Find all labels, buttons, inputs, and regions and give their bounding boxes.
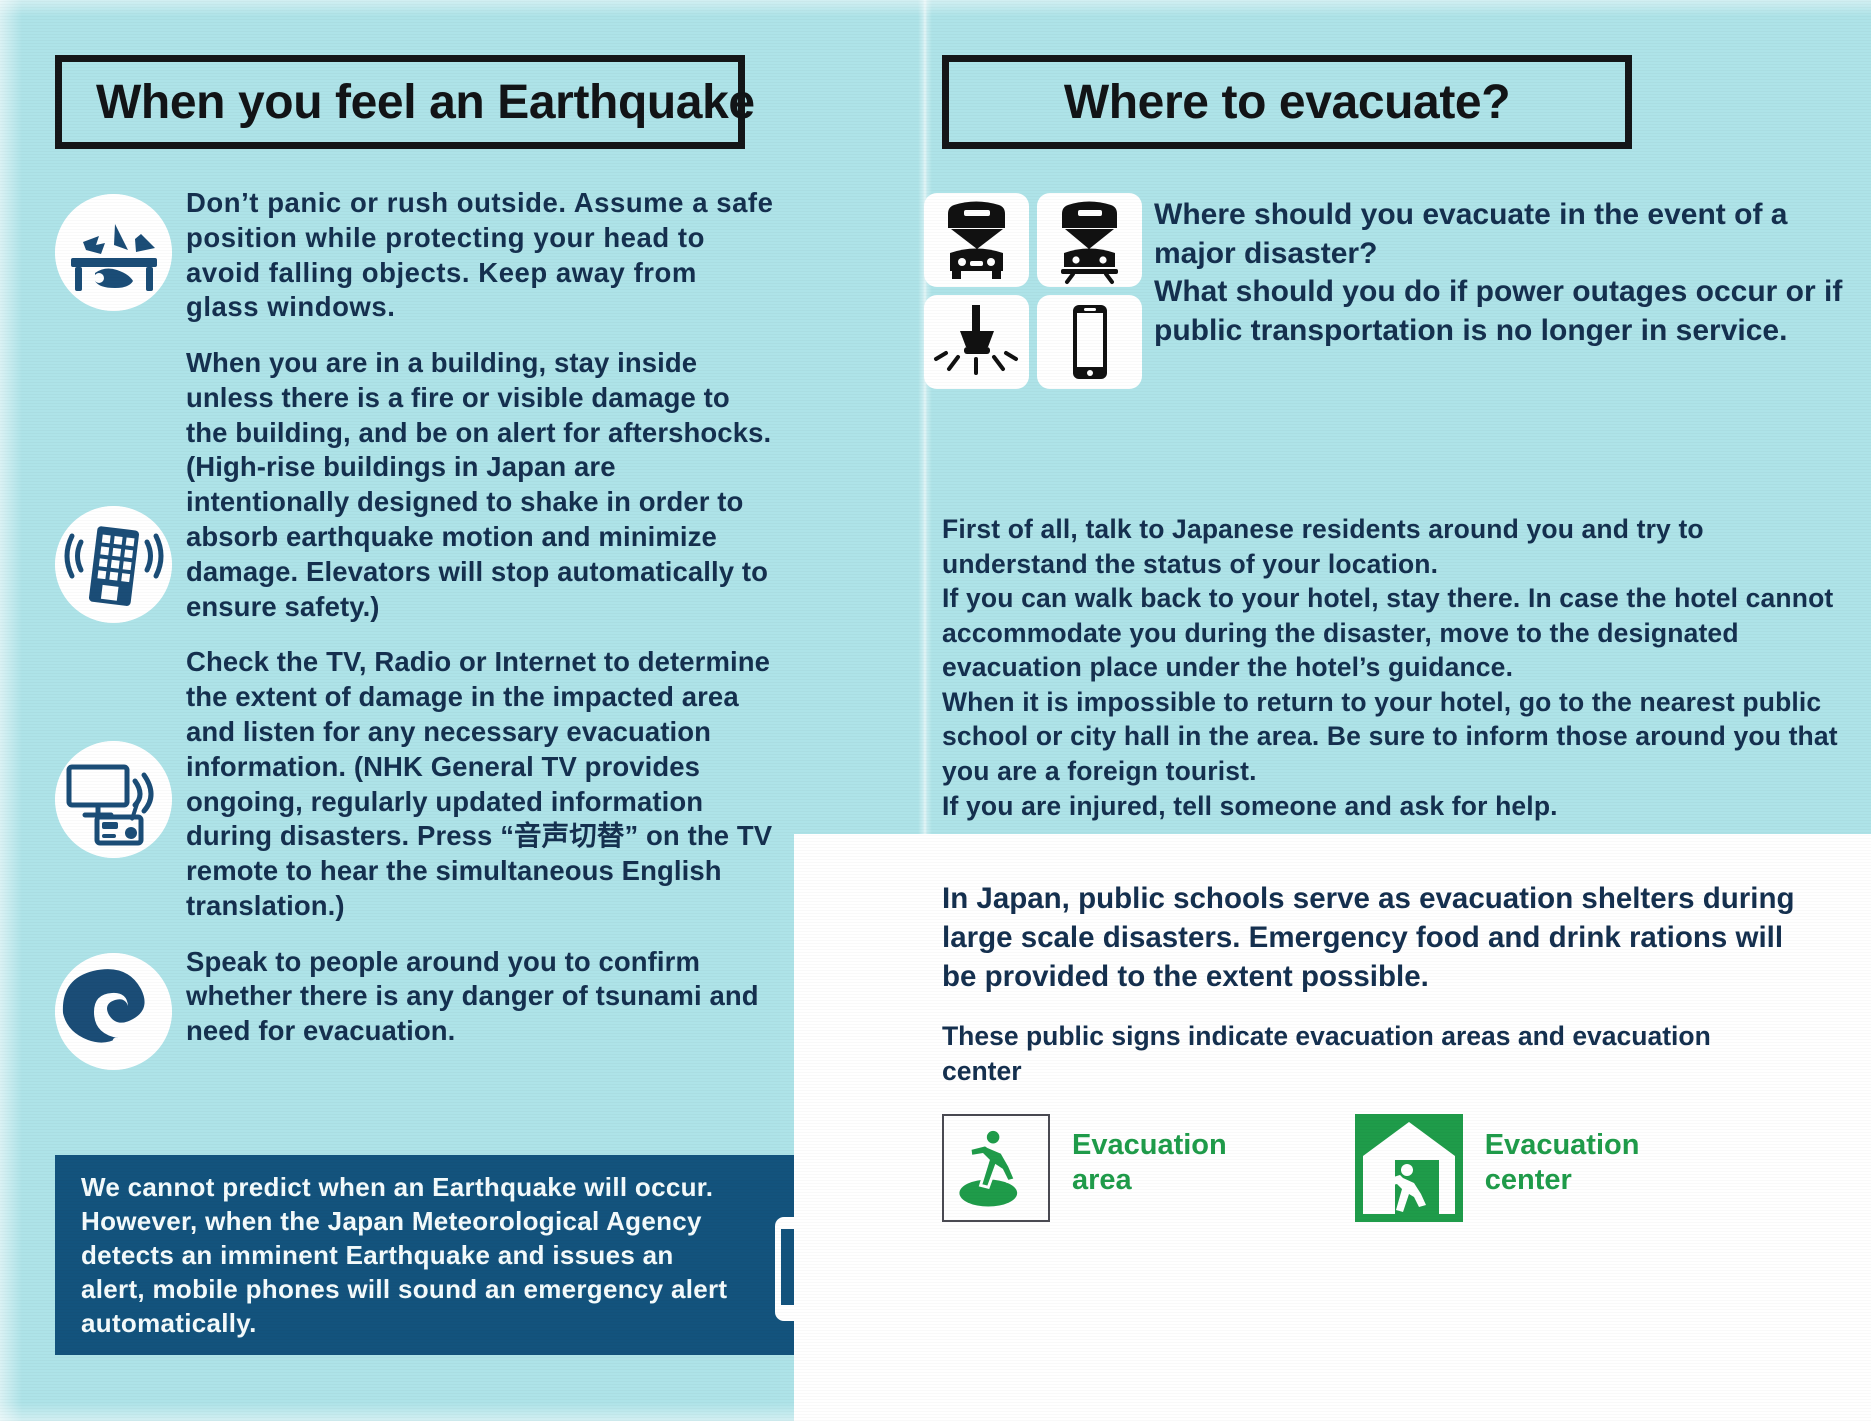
list-item: Speak to people around you to confirm wh… xyxy=(55,945,775,1070)
shelter-bold-text: In Japan, public schools serve as evacua… xyxy=(942,879,1822,997)
advice-text-2: When you are in a building, stay inside … xyxy=(186,346,775,624)
evacuate-paragraph-4: If you are injured, tell someone and ask… xyxy=(942,789,1857,824)
tsunami-wave-icon xyxy=(55,953,172,1070)
evacuation-center-label: Evacuation center xyxy=(1485,1128,1640,1199)
falling-objects-icon xyxy=(55,194,172,311)
page-title-evacuate: Where to evacuate? xyxy=(949,75,1625,130)
advice-text-4: Speak to people around you to confirm wh… xyxy=(186,945,775,1070)
shelter-note-text: These public signs indicate evacuation a… xyxy=(942,1019,1792,1088)
evacuation-area-sign: Evacuation area xyxy=(942,1114,1227,1222)
evacuation-center-sign-icon xyxy=(1355,1114,1463,1222)
evacuation-area-sign-icon xyxy=(942,1114,1050,1222)
earthquake-advice-list: Don’t panic or rush outside. Assume a sa… xyxy=(55,186,775,1070)
right-panel: Where to evacuate? xyxy=(932,0,1871,1421)
advice-text-3: Check the TV, Radio or Internet to deter… xyxy=(186,645,775,923)
bus-icon xyxy=(924,193,1029,287)
emergency-alert-box: We cannot predict when an Earthquake wil… xyxy=(55,1155,887,1355)
list-item: When you are in a building, stay inside … xyxy=(55,346,775,624)
evacuate-lead-text: Where should you evacuate in the event o… xyxy=(1154,196,1854,351)
evacuate-paragraph-2: If you can walk back to your hotel, stay… xyxy=(942,581,1857,685)
evacuation-shelter-card: In Japan, public schools serve as evacua… xyxy=(794,834,1871,1421)
brochure-sheet: When you feel an Earthquake xyxy=(0,0,1871,1421)
transport-power-icon-grid xyxy=(924,193,1146,389)
shaking-building-icon xyxy=(55,506,172,623)
train-icon xyxy=(1037,193,1142,287)
power-outage-icon xyxy=(924,295,1029,389)
evacuate-body-text: First of all, talk to Japanese residents… xyxy=(942,512,1857,823)
evacuation-signs-group: Evacuation area xyxy=(942,1114,1639,1222)
paper-edge-bottom xyxy=(0,1403,1871,1421)
evacuation-area-label: Evacuation area xyxy=(1072,1128,1227,1199)
tv-radio-icon xyxy=(55,741,172,858)
list-item: Check the TV, Radio or Internet to deter… xyxy=(55,645,775,923)
evacuate-paragraph-3: When it is impossible to return to your … xyxy=(942,685,1857,789)
left-panel-heading-box: When you feel an Earthquake xyxy=(55,55,745,149)
right-panel-heading-box: Where to evacuate? xyxy=(942,55,1632,149)
paper-edge-left xyxy=(0,0,22,1421)
evacuation-center-sign: Evacuation center xyxy=(1355,1114,1640,1222)
page-title-earthquake: When you feel an Earthquake xyxy=(62,75,755,130)
evacuate-paragraph-1: First of all, talk to Japanese residents… xyxy=(942,512,1857,581)
left-panel: When you feel an Earthquake xyxy=(0,0,918,1421)
smartphone-icon xyxy=(1037,295,1142,389)
paper-edge-top xyxy=(0,0,1871,16)
emergency-alert-text: We cannot predict when an Earthquake wil… xyxy=(55,1160,745,1350)
list-item: Don’t panic or rush outside. Assume a sa… xyxy=(55,186,775,325)
advice-text-1: Don’t panic or rush outside. Assume a sa… xyxy=(186,186,775,325)
